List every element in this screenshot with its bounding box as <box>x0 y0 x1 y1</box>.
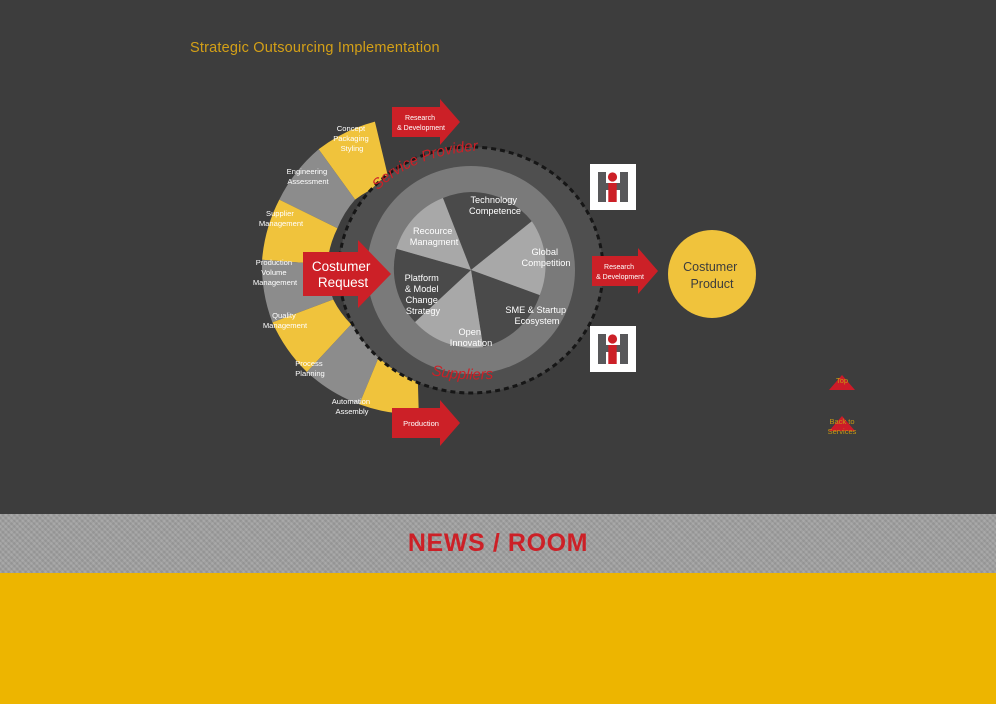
arrow-label-customer-request: Costumer Request <box>312 259 374 290</box>
side-navigation: Top Back to Services <box>812 358 872 450</box>
news-room-band[interactable]: NEWS / ROOM <box>0 514 996 573</box>
outer-ring-label-engineering: Engineering Assessment <box>287 167 330 186</box>
logo-person-body-icon <box>608 183 616 202</box>
logo-person-head-icon <box>608 334 617 343</box>
nav-top-button[interactable]: Top <box>812 358 872 385</box>
output-circle-customer-product[interactable]: Costumer Product <box>668 230 756 318</box>
logo-badge-bottom[interactable] <box>590 326 636 372</box>
pie-label-recource-managment: Recource Managment <box>410 226 459 247</box>
page-root: Strategic Outsourcing Implementation <box>0 0 996 704</box>
nav-back-to-services-line2: Services <box>812 427 872 436</box>
nav-back-to-services-line1: Back to <box>812 417 872 426</box>
triangle-up-icon <box>829 358 855 390</box>
logo-person-head-icon <box>608 172 617 181</box>
arrow-research-development-top[interactable]: Research & Development <box>392 99 460 145</box>
arrow-label-production: Production <box>403 419 439 428</box>
pie-label-technology-competence: Technology Competence <box>469 195 521 216</box>
footer-yellow-band <box>0 573 996 704</box>
logo-badge-top[interactable] <box>590 164 636 210</box>
news-room-title: NEWS / ROOM <box>408 529 588 558</box>
pie-label-sme-startup-ecosystem: SME & Startup Ecosystem <box>505 305 568 326</box>
pie-label-platform-model-change-strategy: Platform & Model Change Strategy <box>405 273 442 316</box>
outer-ring-label-process-planning: Process Planning <box>295 359 325 378</box>
logo-person-body-icon <box>608 345 616 364</box>
nav-back-to-services-button[interactable]: Back to Services <box>812 399 872 436</box>
nav-top-label: Top <box>812 376 872 385</box>
outer-ring-label-automation: Automation Assembly <box>332 397 373 416</box>
